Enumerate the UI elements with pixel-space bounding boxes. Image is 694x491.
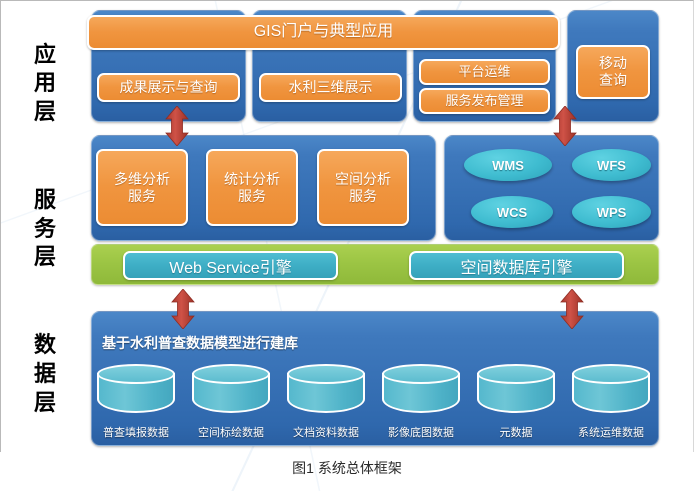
layer-char: 层 bbox=[34, 98, 56, 127]
database-cylinder-documents[interactable]: 文档资料数据 bbox=[287, 364, 365, 422]
service-box-spatial-analysis[interactable]: 空间分析 服务 bbox=[317, 149, 409, 226]
connector-app-service-right bbox=[552, 106, 578, 146]
layer-char: 数 bbox=[34, 331, 56, 360]
layer-label-data: 数 据 层 bbox=[34, 331, 56, 417]
double-arrow-vertical-icon bbox=[170, 289, 196, 329]
service-box-statistical-analysis[interactable]: 统计分析 服务 bbox=[206, 149, 298, 226]
connector-service-data-right bbox=[559, 289, 585, 329]
database-cylinder-ops[interactable]: 系统运维数据 bbox=[572, 364, 650, 422]
database-cylinder-spatial-markup[interactable]: 空间标绘数据 bbox=[192, 364, 270, 422]
cylinder-top bbox=[97, 364, 175, 384]
layer-char: 服 bbox=[34, 186, 56, 215]
connector-service-data-left bbox=[170, 289, 196, 329]
ogc-service-wps[interactable]: WPS bbox=[572, 196, 651, 228]
ogc-service-wfs[interactable]: WFS bbox=[572, 149, 651, 181]
database-label: 影像底图数据 bbox=[376, 424, 466, 440]
layer-char: 用 bbox=[34, 69, 56, 98]
service-box-multidim-analysis[interactable]: 多维分析 服务 bbox=[96, 149, 188, 226]
layer-label-rail: 应 用 层 服 务 层 数 据 层 bbox=[13, 11, 77, 447]
ogc-service-wms[interactable]: WMS bbox=[464, 149, 552, 181]
double-arrow-vertical-icon bbox=[559, 289, 585, 329]
cylinder-top bbox=[572, 364, 650, 384]
cylinder-top bbox=[477, 364, 555, 384]
figure-area: 应 用 层 服 务 层 数 据 层 GIS门户与典型应用 成果展示与查询 水利三… bbox=[0, 0, 694, 452]
gis-portal-banner[interactable]: GIS门户与典型应用 bbox=[87, 15, 560, 50]
cylinder-top bbox=[192, 364, 270, 384]
app-box-results-display[interactable]: 成果展示与查询 bbox=[97, 73, 240, 102]
app-box-service-publish[interactable]: 服务发布管理 bbox=[419, 88, 550, 114]
layer-char: 层 bbox=[34, 389, 56, 418]
layer-char: 层 bbox=[34, 243, 56, 272]
database-cylinder-metadata[interactable]: 元数据 bbox=[477, 364, 555, 422]
data-layer-title: 基于水利普查数据模型进行建库 bbox=[102, 333, 298, 353]
double-arrow-vertical-icon bbox=[552, 106, 578, 146]
app-box-platform-ops[interactable]: 平台运维 bbox=[419, 59, 550, 85]
database-label: 文档资料数据 bbox=[281, 424, 371, 440]
cylinder-top bbox=[287, 364, 365, 384]
database-label: 元数据 bbox=[471, 424, 561, 440]
layer-char: 务 bbox=[34, 215, 56, 244]
layer-label-service: 服 务 层 bbox=[34, 186, 56, 272]
connector-app-service-left bbox=[164, 106, 190, 146]
database-label: 空间标绘数据 bbox=[186, 424, 276, 440]
app-box-mobile-query[interactable]: 移动 查询 bbox=[576, 45, 650, 99]
ogc-service-wcs[interactable]: WCS bbox=[471, 196, 553, 228]
engine-spatial-database[interactable]: 空间数据库引擎 bbox=[409, 251, 624, 280]
engine-web-service[interactable]: Web Service引擎 bbox=[123, 251, 338, 280]
database-label: 普查填报数据 bbox=[91, 424, 181, 440]
figure-caption: 图1 系统总体框架 bbox=[0, 458, 694, 478]
layer-char: 应 bbox=[34, 41, 56, 70]
double-arrow-vertical-icon bbox=[164, 106, 190, 146]
app-box-water-3d[interactable]: 水利三维展示 bbox=[259, 73, 402, 102]
cylinder-top bbox=[382, 364, 460, 384]
database-label: 系统运维数据 bbox=[566, 424, 656, 440]
database-cylinder-imagery[interactable]: 影像底图数据 bbox=[382, 364, 460, 422]
layer-char: 据 bbox=[34, 360, 56, 389]
layer-label-application: 应 用 层 bbox=[34, 41, 56, 127]
database-cylinder-survey[interactable]: 普查填报数据 bbox=[97, 364, 175, 422]
